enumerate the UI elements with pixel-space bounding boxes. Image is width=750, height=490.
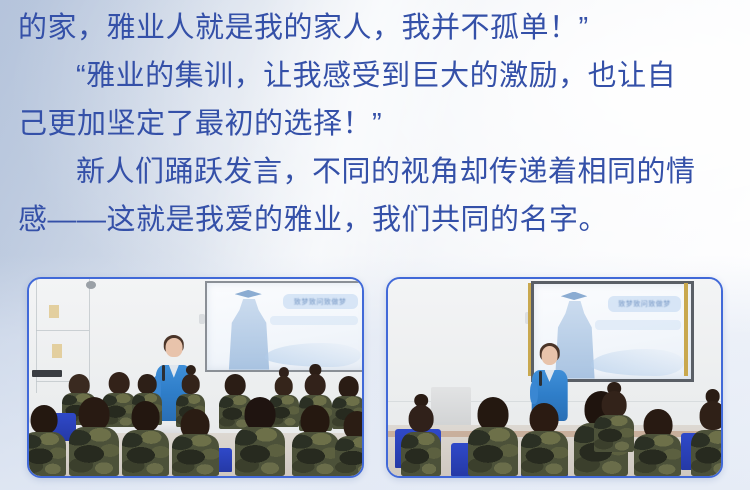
audience-head [109, 372, 130, 394]
speaker-head [541, 346, 558, 365]
audience-member [172, 409, 219, 476]
microphone [162, 365, 165, 382]
audience-member [468, 397, 518, 476]
testimonial-line-3: 己更加坚定了最初的选择！” [18, 100, 732, 148]
audience-head [131, 401, 160, 432]
slide-graduation-cap-icon [561, 292, 588, 301]
slide-title-pill: 致梦致问致做梦 [283, 294, 358, 309]
wall-sensor [199, 314, 206, 324]
audience-uniform [521, 431, 568, 476]
audience-head [699, 401, 721, 430]
slide-graduation-cap-icon [235, 290, 262, 298]
testimonial-line-1: 的家，雅业人就是我的家人，我并不孤单！” [18, 4, 732, 52]
testimonial-text-block: 的家，雅业人就是我的家人，我并不孤单！” “雅业的集训，让我感受到巨大的激励，也… [0, 0, 750, 244]
testimonial-line-5: 感——这就是我爱的雅业，我们共同的名字。 [18, 196, 732, 244]
audience-member [335, 411, 362, 476]
audience-member [594, 391, 634, 452]
audience-member [401, 405, 441, 476]
audience-member [29, 405, 66, 476]
speaker-head [165, 338, 182, 357]
audience-uniform [29, 432, 66, 476]
audience-head [245, 397, 276, 430]
audience-head [274, 376, 293, 396]
audience-member [292, 405, 339, 476]
gallery-photo-right[interactable]: 致梦致问致做梦 [386, 277, 723, 478]
audience-member [691, 401, 721, 476]
slide-title-pill: 致梦致问致做梦 [608, 296, 682, 312]
audience-uniform [172, 434, 219, 476]
audience-head [530, 403, 559, 434]
audience-uniform [401, 432, 441, 476]
audience-uniform [235, 427, 285, 476]
audience-member [235, 397, 285, 476]
wall-notice [52, 344, 62, 358]
slide-subtitle-bar [270, 316, 358, 326]
audience-head [477, 397, 508, 430]
audience-head [31, 405, 58, 434]
testimonial-line-2: “雅业的集训，让我感受到巨大的激励，也让自 [18, 52, 732, 100]
audience-uniform [69, 427, 119, 476]
audience-head [409, 405, 434, 432]
audience-uniform [292, 432, 339, 476]
screen-frame-edge [684, 283, 687, 376]
ceiling-camera [86, 281, 96, 289]
audience-member [122, 401, 169, 476]
audience-head [225, 374, 246, 396]
slide-decorative-swoosh [591, 349, 685, 375]
audience-uniform [122, 430, 169, 476]
promo-page: 的家，雅业人就是我的家人，我并不孤单！” “雅业的集训，让我感受到巨大的激励，也… [0, 0, 750, 490]
audience-member [69, 397, 119, 476]
audience-member [634, 409, 681, 476]
wall-vent [32, 370, 62, 378]
audience-uniform [634, 434, 681, 476]
gallery-photo-right-image: 致梦致问致做梦 [388, 279, 721, 476]
speaker-arm [530, 382, 538, 404]
gallery-photo-left[interactable]: 致梦致问致做梦 [27, 277, 364, 478]
testimonial-line-4: 新人们踊跃发言，不同的视角却传递着相同的情 [18, 148, 732, 196]
audience-uniform [594, 415, 634, 453]
slide-decorative-swoosh [265, 343, 361, 367]
audience-head [305, 374, 326, 396]
audience-head [181, 374, 200, 394]
projection-screen: 致梦致问致做梦 [205, 281, 362, 372]
photo-gallery: 致梦致问致做梦 [27, 277, 723, 478]
microphone [539, 371, 542, 386]
gallery-photo-left-image: 致梦致问致做梦 [29, 279, 362, 476]
audience-member [521, 403, 568, 476]
audience-uniform [335, 436, 362, 476]
audience-uniform [691, 430, 721, 476]
slide-title-text: 致梦致问致做梦 [283, 294, 358, 309]
audience-head [338, 376, 359, 398]
wall-notice [49, 305, 59, 319]
audience-head [78, 397, 109, 430]
slide-title-text: 致梦致问致做梦 [608, 296, 682, 312]
audience-uniform [468, 427, 518, 476]
slide-subtitle-bar [595, 320, 681, 330]
audience-head [138, 374, 157, 394]
wall-seam [36, 330, 89, 331]
